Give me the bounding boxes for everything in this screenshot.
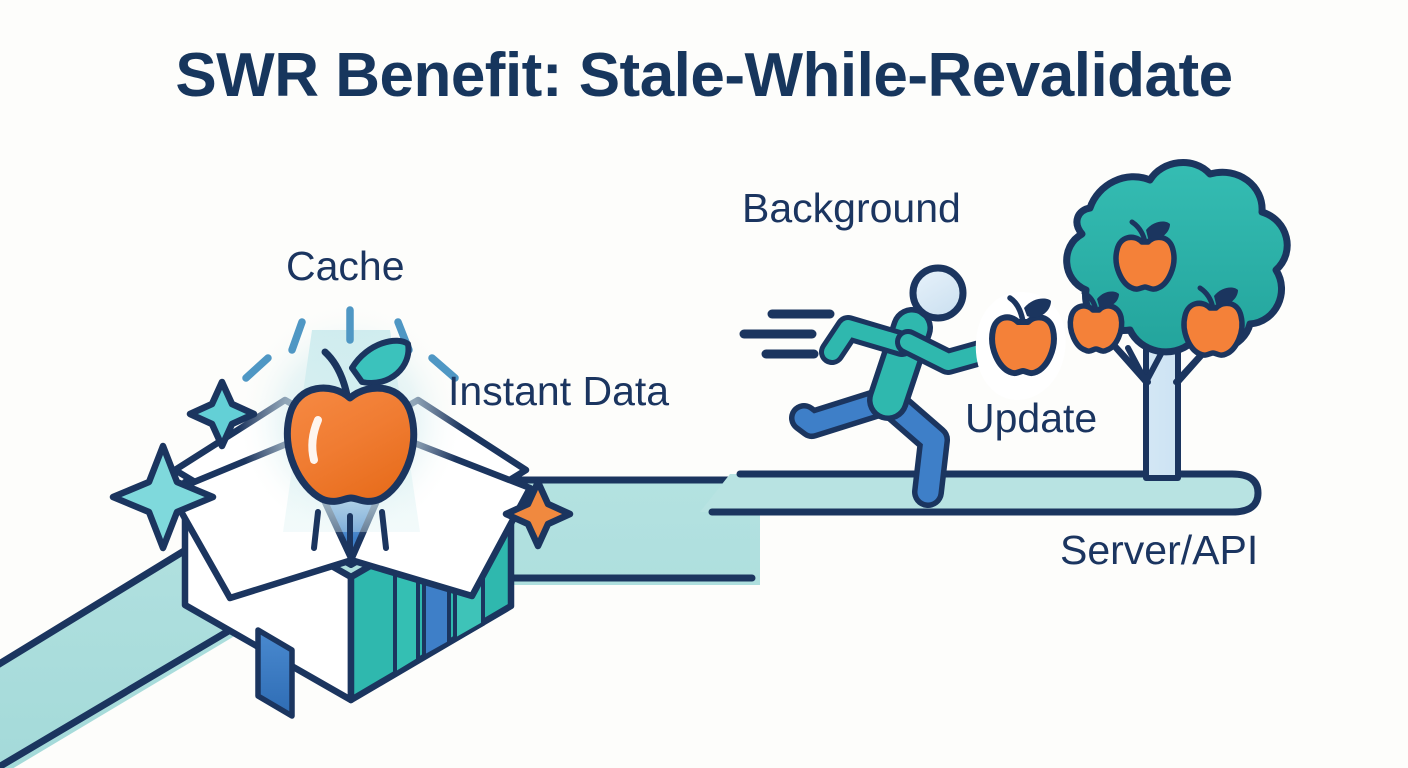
illustration-canvas: SWR Benefit: Stale-While-Revalidate Cach… bbox=[0, 0, 1408, 768]
label-update: Update bbox=[965, 395, 1097, 442]
label-cache: Cache bbox=[286, 243, 405, 290]
speed-lines bbox=[744, 314, 830, 354]
runner-figure bbox=[804, 268, 998, 492]
carried-apple bbox=[984, 298, 1058, 392]
label-background: Background bbox=[742, 185, 961, 232]
apple-tree bbox=[1067, 163, 1288, 478]
page-title: SWR Benefit: Stale-While-Revalidate bbox=[0, 40, 1408, 111]
swr-diagram-svg bbox=[0, 0, 1408, 768]
label-instant-data: Instant Data bbox=[448, 368, 669, 415]
label-server-api: Server/API bbox=[1060, 527, 1258, 574]
